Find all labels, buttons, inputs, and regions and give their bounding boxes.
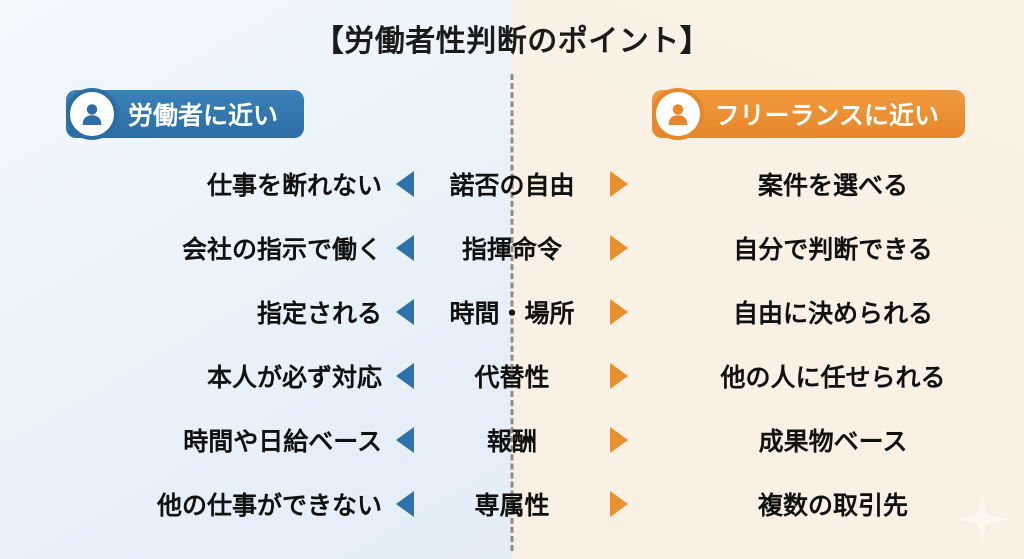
comparison-rows: 仕事を断れない 諾否の自由 案件を選べる 会社の指示で働く 指揮命令 自分で判断… bbox=[0, 152, 1024, 536]
table-row: 仕事を断れない 諾否の自由 案件を選べる bbox=[0, 152, 1024, 216]
arrow-right-icon bbox=[602, 491, 636, 517]
page-title: 【労働者性判断のポイント】 bbox=[0, 16, 1024, 60]
employee-side-value: 他の仕事ができない bbox=[0, 486, 388, 522]
header-badge-employee: 労働者に近い bbox=[66, 90, 304, 138]
header-badge-freelance-label: フリーランスに近い bbox=[714, 96, 939, 132]
employee-side-value: 会社の指示で働く bbox=[0, 230, 388, 266]
criterion-label: 指揮命令 bbox=[422, 230, 602, 266]
person-icon bbox=[66, 88, 118, 140]
table-row: 指定される 時間・場所 自由に決められる bbox=[0, 280, 1024, 344]
arrow-right-icon bbox=[602, 299, 636, 325]
freelance-side-value: 成果物ベース bbox=[636, 422, 1024, 458]
table-row: 本人が必ず対応 代替性 他の人に任せられる bbox=[0, 344, 1024, 408]
freelance-side-value: 他の人に任せられる bbox=[636, 358, 1024, 394]
arrow-left-icon bbox=[388, 299, 422, 325]
employee-side-value: 仕事を断れない bbox=[0, 166, 388, 202]
freelance-side-value: 案件を選べる bbox=[636, 166, 1024, 202]
table-row: 時間や日給ベース 報酬 成果物ベース bbox=[0, 408, 1024, 472]
criterion-label: 諾否の自由 bbox=[422, 166, 602, 202]
arrow-left-icon bbox=[388, 235, 422, 261]
arrow-left-icon bbox=[388, 427, 422, 453]
person-icon bbox=[652, 88, 704, 140]
arrow-right-icon bbox=[602, 235, 636, 261]
table-row: 他の仕事ができない 専属性 複数の取引先 bbox=[0, 472, 1024, 536]
criterion-label: 専属性 bbox=[422, 486, 602, 522]
criterion-label: 時間・場所 bbox=[422, 294, 602, 330]
arrow-left-icon bbox=[388, 171, 422, 197]
employee-side-value: 時間や日給ベース bbox=[0, 422, 388, 458]
employee-side-value: 本人が必ず対応 bbox=[0, 358, 388, 394]
arrow-right-icon bbox=[602, 171, 636, 197]
arrow-left-icon bbox=[388, 491, 422, 517]
header-badge-employee-label: 労働者に近い bbox=[128, 96, 278, 132]
arrow-right-icon bbox=[602, 363, 636, 389]
criterion-label: 代替性 bbox=[422, 358, 602, 394]
header-badge-freelance: フリーランスに近い bbox=[652, 90, 965, 138]
comparison-infographic: 【労働者性判断のポイント】 労働者に近い フリーランスに近い 仕事を断れない bbox=[0, 0, 1024, 559]
criterion-label: 報酬 bbox=[422, 422, 602, 458]
freelance-side-value: 自由に決められる bbox=[636, 294, 1024, 330]
arrow-right-icon bbox=[602, 427, 636, 453]
arrow-left-icon bbox=[388, 363, 422, 389]
table-row: 会社の指示で働く 指揮命令 自分で判断できる bbox=[0, 216, 1024, 280]
freelance-side-value: 自分で判断できる bbox=[636, 230, 1024, 266]
freelance-side-value: 複数の取引先 bbox=[636, 486, 1024, 522]
employee-side-value: 指定される bbox=[0, 294, 388, 330]
